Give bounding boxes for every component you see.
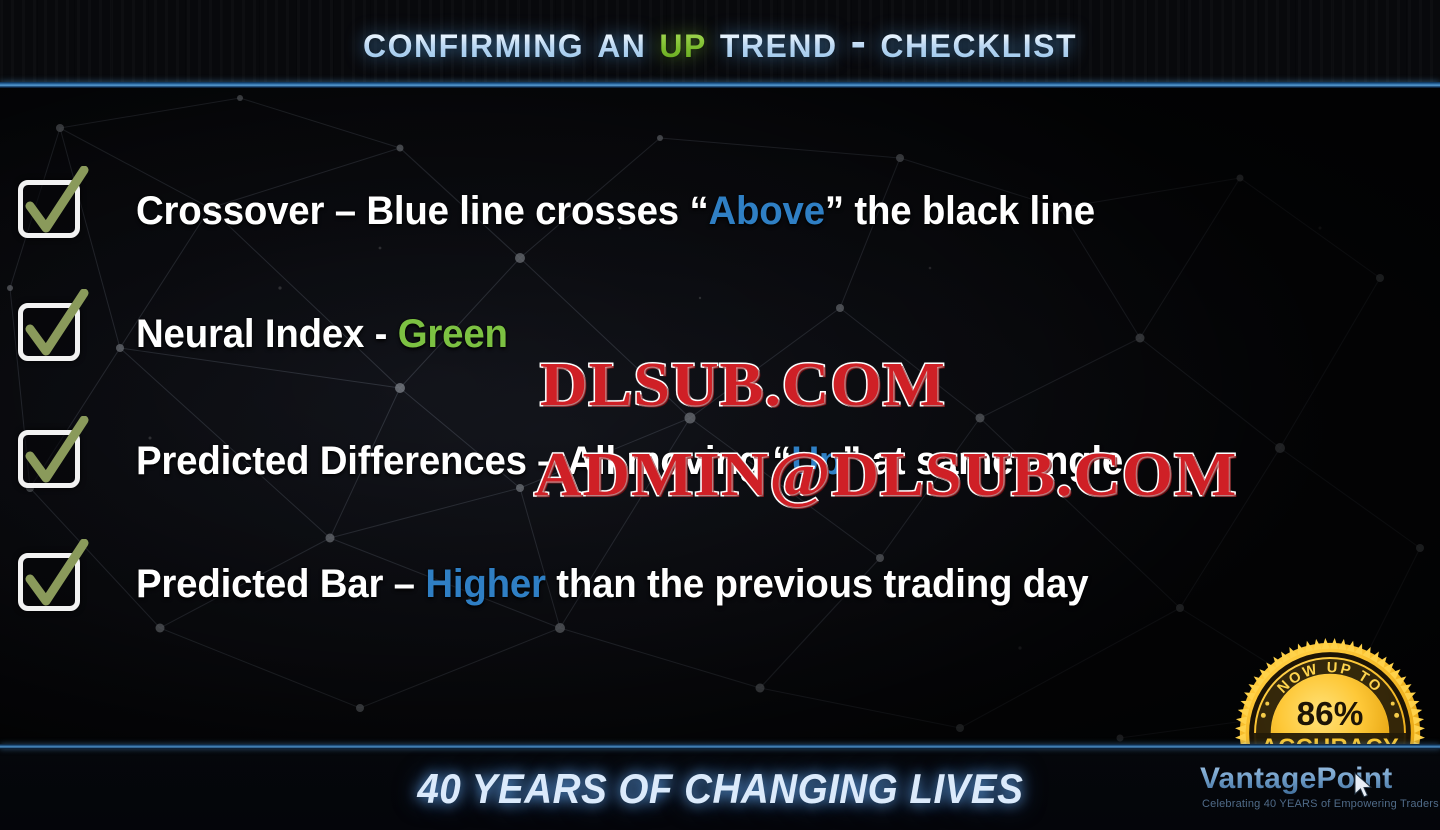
checkbox-checked-icon[interactable]: [18, 430, 84, 492]
title-word-up: Up: [659, 14, 706, 68]
seg-highlight-above: Above: [708, 189, 824, 233]
check-mark-icon: [20, 166, 90, 242]
slide-canvas: Confirming An Up Trend - Checklist: [0, 0, 1440, 830]
logo-tagline-text: Celebrating 40 YEARS of Empowering Trade…: [1202, 798, 1439, 810]
title-word-checklist: Checklist: [880, 14, 1077, 68]
seg-plain-a: Crossover – Blue line crosses “: [136, 189, 708, 233]
checklist-item-neural-index[interactable]: Neural Index - Green: [0, 303, 523, 365]
seg-highlight-green: Green: [398, 312, 508, 356]
checklist-item-text: Crossover – Blue line crosses “Above” th…: [136, 189, 1095, 234]
seg-plain-b: ” the black line: [825, 189, 1095, 233]
check-mark-icon: [20, 416, 90, 492]
vantagepoint-logo[interactable]: VantagePoint Celebrating 40 YEARS of Emp…: [1190, 758, 1426, 820]
footer-tagline-text: 40 YEARS OF CHANGING LIVES: [417, 765, 1023, 813]
seg-highlight-higher: Higher: [425, 562, 545, 606]
checklist-item-predicted-bar[interactable]: Predicted Bar – Higher than the previous…: [0, 553, 1128, 615]
watermark-email: ADMIN@DLSUB.COMADMIN@DLSUB.COM: [534, 440, 1237, 511]
seg-plain-b: than the previous trading day: [546, 562, 1089, 606]
title-word-confirming: Confirming: [363, 14, 584, 68]
seg-plain-a: Neural Index -: [136, 312, 398, 356]
checklist-item-crossover[interactable]: Crossover – Blue line crosses “Above” th…: [0, 180, 1135, 242]
header-band: Confirming An Up Trend - Checklist: [0, 0, 1440, 88]
cursor-arrow-icon: [1353, 772, 1375, 800]
checkbox-checked-icon[interactable]: [18, 553, 84, 615]
badge-percent-text: 86%: [1297, 696, 1364, 733]
page-title: Confirming An Up Trend - Checklist: [0, 0, 1440, 82]
title-word-an: An: [597, 14, 646, 68]
accuracy-badge: NOW UP TO Documented & Verified 86% ACCU…: [1232, 635, 1428, 748]
watermark-domain: DLSUB.COMDLSUB.COM: [540, 350, 946, 421]
checklist-item-text: Neural Index - Green: [136, 312, 508, 357]
check-mark-icon: [20, 289, 90, 365]
seg-plain-a: Predicted Bar –: [136, 562, 425, 606]
body-area: Crossover – Blue line crosses “Above” th…: [0, 88, 1440, 748]
title-dash: -: [851, 14, 868, 68]
title-word-trend: Trend: [720, 14, 838, 68]
accuracy-seal-icon: NOW UP TO Documented & Verified 86% ACCU…: [1232, 635, 1428, 748]
check-mark-icon: [20, 539, 90, 615]
footer-band: 40 YEARS OF CHANGING LIVES VantagePoint …: [0, 748, 1440, 830]
checkbox-checked-icon[interactable]: [18, 303, 84, 365]
checkbox-checked-icon[interactable]: [18, 180, 84, 242]
checklist-item-text: Predicted Bar – Higher than the previous…: [136, 562, 1088, 607]
